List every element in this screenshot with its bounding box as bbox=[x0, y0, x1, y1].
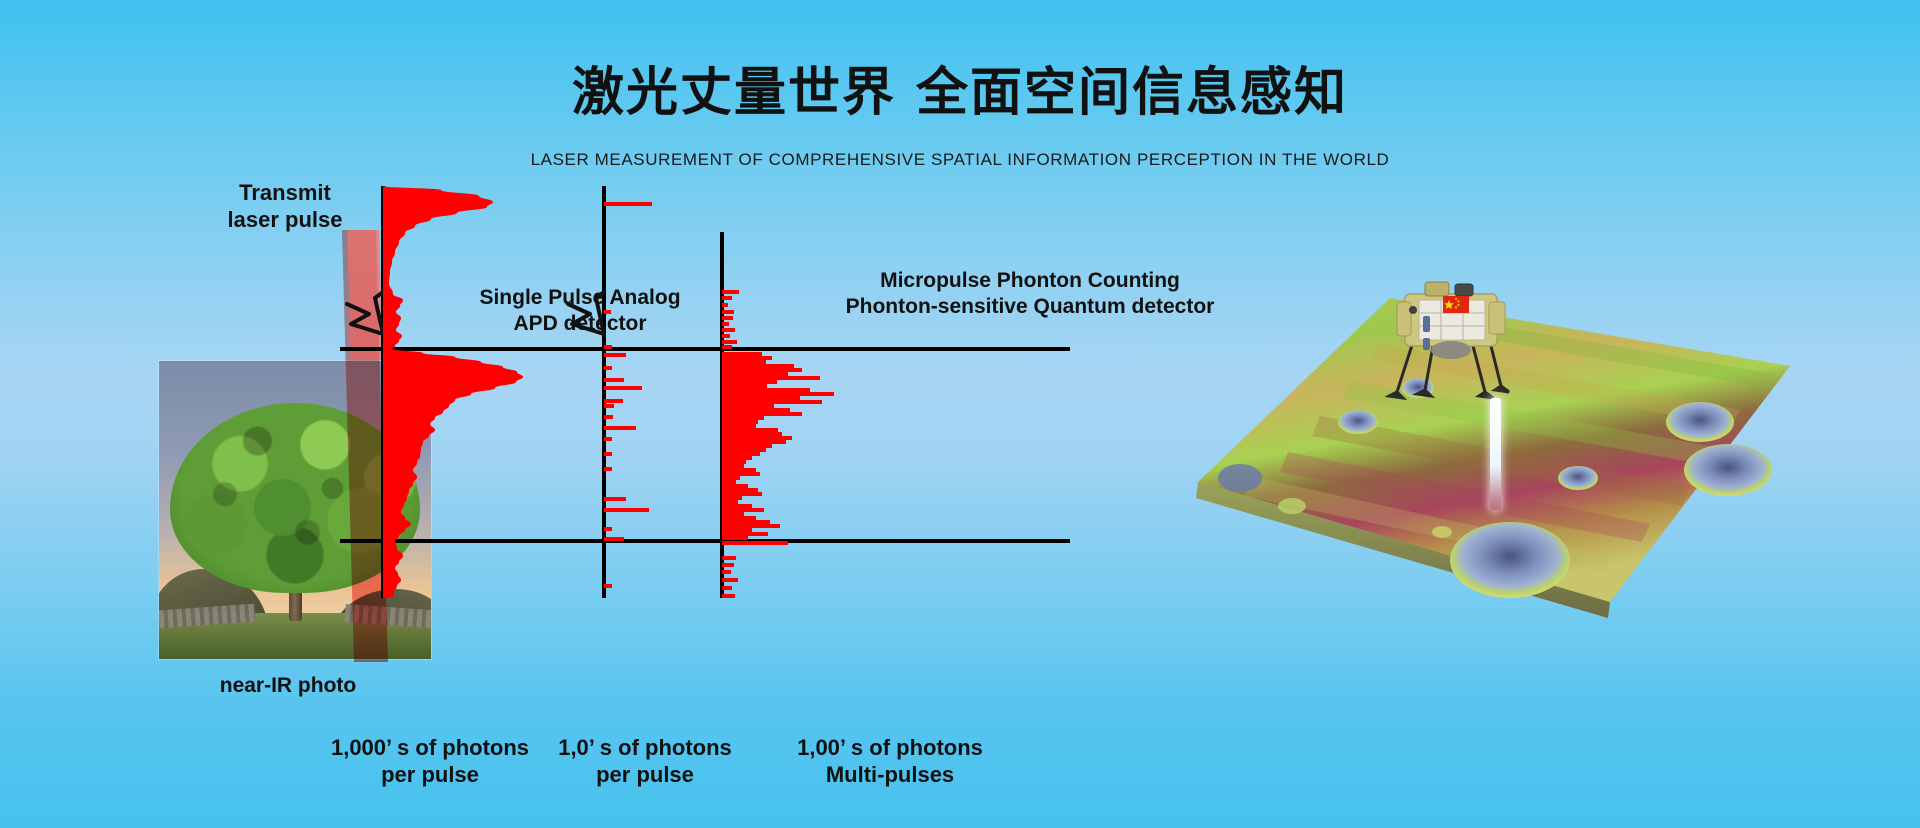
photon-bar bbox=[604, 378, 624, 382]
photon-bar bbox=[604, 508, 649, 512]
plot3-photon-bars bbox=[722, 0, 942, 828]
lander-engine-nozzle bbox=[1431, 341, 1471, 359]
photon-bar bbox=[604, 527, 612, 531]
mound bbox=[1278, 498, 1306, 514]
page-subtitle: LASER MEASUREMENT OF COMPREHENSIVE SPATI… bbox=[0, 150, 1920, 170]
photon-bar bbox=[604, 537, 624, 541]
label-micropulse-detector: Micropulse Phonton Counting Phonton-sens… bbox=[820, 268, 1240, 319]
photon-bar bbox=[604, 399, 623, 403]
photon-bar bbox=[604, 202, 652, 206]
crater bbox=[1450, 522, 1570, 598]
photon-bar bbox=[604, 366, 612, 370]
lunar-lander bbox=[1385, 280, 1515, 400]
photon-bar bbox=[722, 328, 735, 332]
label-near-ir-photo: near-IR photo bbox=[198, 673, 378, 699]
photon-bar bbox=[604, 497, 626, 501]
photon-bar bbox=[722, 322, 729, 326]
photon-bar bbox=[722, 563, 734, 567]
photon-bar bbox=[722, 340, 737, 344]
photon-bar bbox=[722, 541, 788, 545]
page-title: 激光丈量世界 全面空间信息感知 bbox=[0, 50, 1920, 125]
label-transmit-laser-pulse: Transmit laser pulse bbox=[200, 180, 370, 234]
photon-bar bbox=[722, 316, 733, 320]
photon-bar bbox=[604, 437, 612, 441]
photon-bar bbox=[722, 594, 735, 598]
photon-bar bbox=[604, 452, 612, 456]
crater bbox=[1558, 466, 1598, 490]
photon-bar bbox=[722, 536, 748, 540]
plot1-analog-waveform bbox=[383, 186, 553, 600]
crater bbox=[1666, 402, 1734, 442]
mound bbox=[1432, 526, 1452, 538]
photon-bar bbox=[722, 570, 731, 574]
photon-bar bbox=[604, 426, 636, 430]
lander-laser-beam-icon bbox=[1490, 398, 1501, 510]
photon-bar bbox=[604, 353, 626, 357]
lander-body bbox=[1397, 282, 1505, 350]
photon-bar bbox=[604, 310, 611, 314]
crater bbox=[1218, 464, 1262, 492]
crater bbox=[1684, 444, 1772, 496]
photon-bar bbox=[722, 578, 738, 582]
poster-canvas: 激光丈量世界 全面空间信息感知 LASER MEASUREMENT OF COM… bbox=[0, 0, 1920, 828]
caption-plot3: 1,00’ s of photons Multi-pulses bbox=[760, 735, 1020, 789]
photon-bar bbox=[604, 386, 642, 390]
photon-bar bbox=[722, 556, 736, 560]
photon-bar bbox=[604, 584, 612, 588]
photon-bar bbox=[722, 296, 732, 300]
photon-bar bbox=[722, 334, 730, 338]
photon-bar bbox=[722, 345, 732, 349]
photon-bar bbox=[604, 467, 612, 471]
photon-bar bbox=[604, 404, 614, 408]
photon-bar bbox=[722, 303, 728, 307]
photon-bar bbox=[604, 415, 613, 419]
photon-bar bbox=[722, 310, 734, 314]
china-flag-icon bbox=[1443, 296, 1469, 313]
photon-bar bbox=[722, 290, 739, 294]
photon-bar bbox=[722, 586, 732, 590]
crater bbox=[1338, 410, 1378, 434]
photon-bar bbox=[604, 345, 612, 349]
